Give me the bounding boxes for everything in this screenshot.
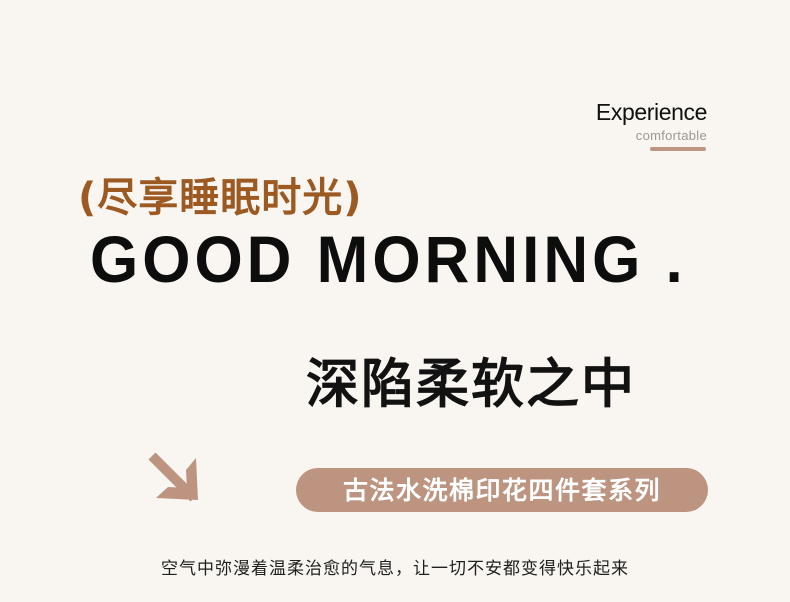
sleep-time-line: (尽享睡眠时光) (78, 178, 363, 218)
promo-banner: Experience comfortable (尽享睡眠时光) GOOD MOR… (0, 0, 790, 602)
experience-subtitle: comfortable (487, 126, 707, 147)
experience-underline-rule (650, 147, 706, 151)
soft-headline: 深陷柔软之中 (306, 358, 636, 411)
experience-block: Experience comfortable (487, 100, 707, 147)
experience-title: Experience (487, 100, 707, 124)
arrow-down-right-icon (146, 448, 208, 510)
good-morning-headline: GOOD MORNING . (90, 228, 687, 294)
tagline: 空气中弥漫着温柔治愈的气息，让一切不安都变得快乐起来 (0, 558, 790, 582)
series-badge-label: 古法水洗棉印花四件套系列 (343, 478, 661, 503)
series-badge: 古法水洗棉印花四件套系列 (296, 468, 708, 512)
